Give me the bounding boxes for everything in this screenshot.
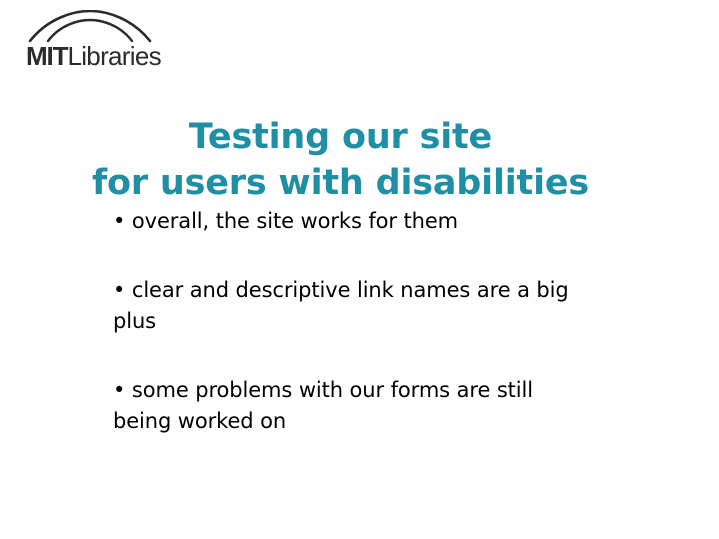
logo-mit-text: MIT	[26, 41, 67, 71]
bullet-glyph: •	[113, 209, 125, 233]
list-item: • clear and descriptive link names are a…	[113, 275, 583, 337]
slide-title-line-2: for users with disabilities	[0, 160, 681, 206]
slide-body: • overall, the site works for them • cle…	[113, 206, 633, 437]
logo-libraries-text: Libraries	[67, 41, 160, 71]
list-item: • some problems with our forms are still…	[113, 375, 583, 437]
list-item: • overall, the site works for them	[113, 206, 583, 237]
list-item-text: some problems with our forms are still b…	[113, 378, 533, 433]
logo-wordmark: MITLibraries	[26, 41, 161, 71]
list-item-text: overall, the site works for them	[132, 209, 458, 233]
slide-title: Testing our site for users with disabili…	[0, 114, 681, 206]
bullet-glyph: •	[113, 378, 125, 402]
slide-title-line-1: Testing our site	[0, 114, 681, 160]
mit-libraries-logo: MITLibraries	[22, 8, 164, 74]
presentation-slide: MITLibraries Testing our site for users …	[0, 0, 719, 539]
mit-dome-arcs-icon	[28, 10, 152, 44]
list-item-text: clear and descriptive link names are a b…	[113, 278, 569, 333]
bullet-glyph: •	[113, 278, 125, 302]
